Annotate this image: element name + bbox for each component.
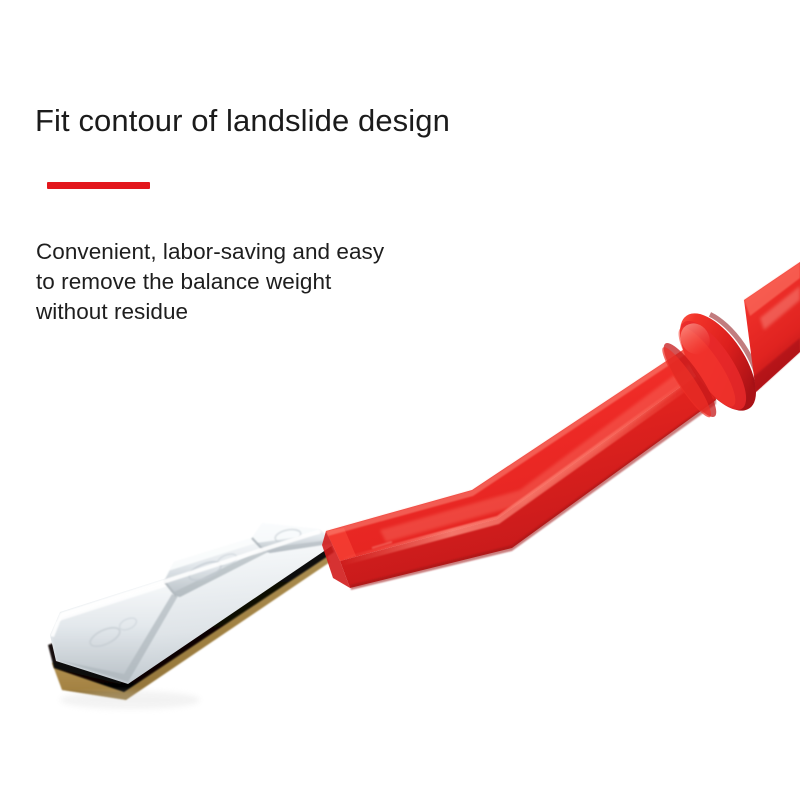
chrome-balance-weight-strip: [50, 523, 336, 684]
feature-description: Convenient, labor-saving and easy to rem…: [36, 237, 466, 327]
description-line-2: to remove the balance weight: [36, 267, 466, 297]
description-line-3: without residue: [36, 297, 466, 327]
page-title: Fit contour of landslide design: [35, 103, 450, 139]
contact-shadow: [60, 691, 200, 709]
red-handle-grip: [744, 262, 800, 392]
product-feature-slide: Fit contour of landslide design Convenie…: [0, 0, 800, 800]
red-plastic-shaft: [322, 332, 716, 590]
description-line-1: Convenient, labor-saving and easy: [36, 237, 466, 267]
title-accent-divider: [47, 182, 150, 189]
